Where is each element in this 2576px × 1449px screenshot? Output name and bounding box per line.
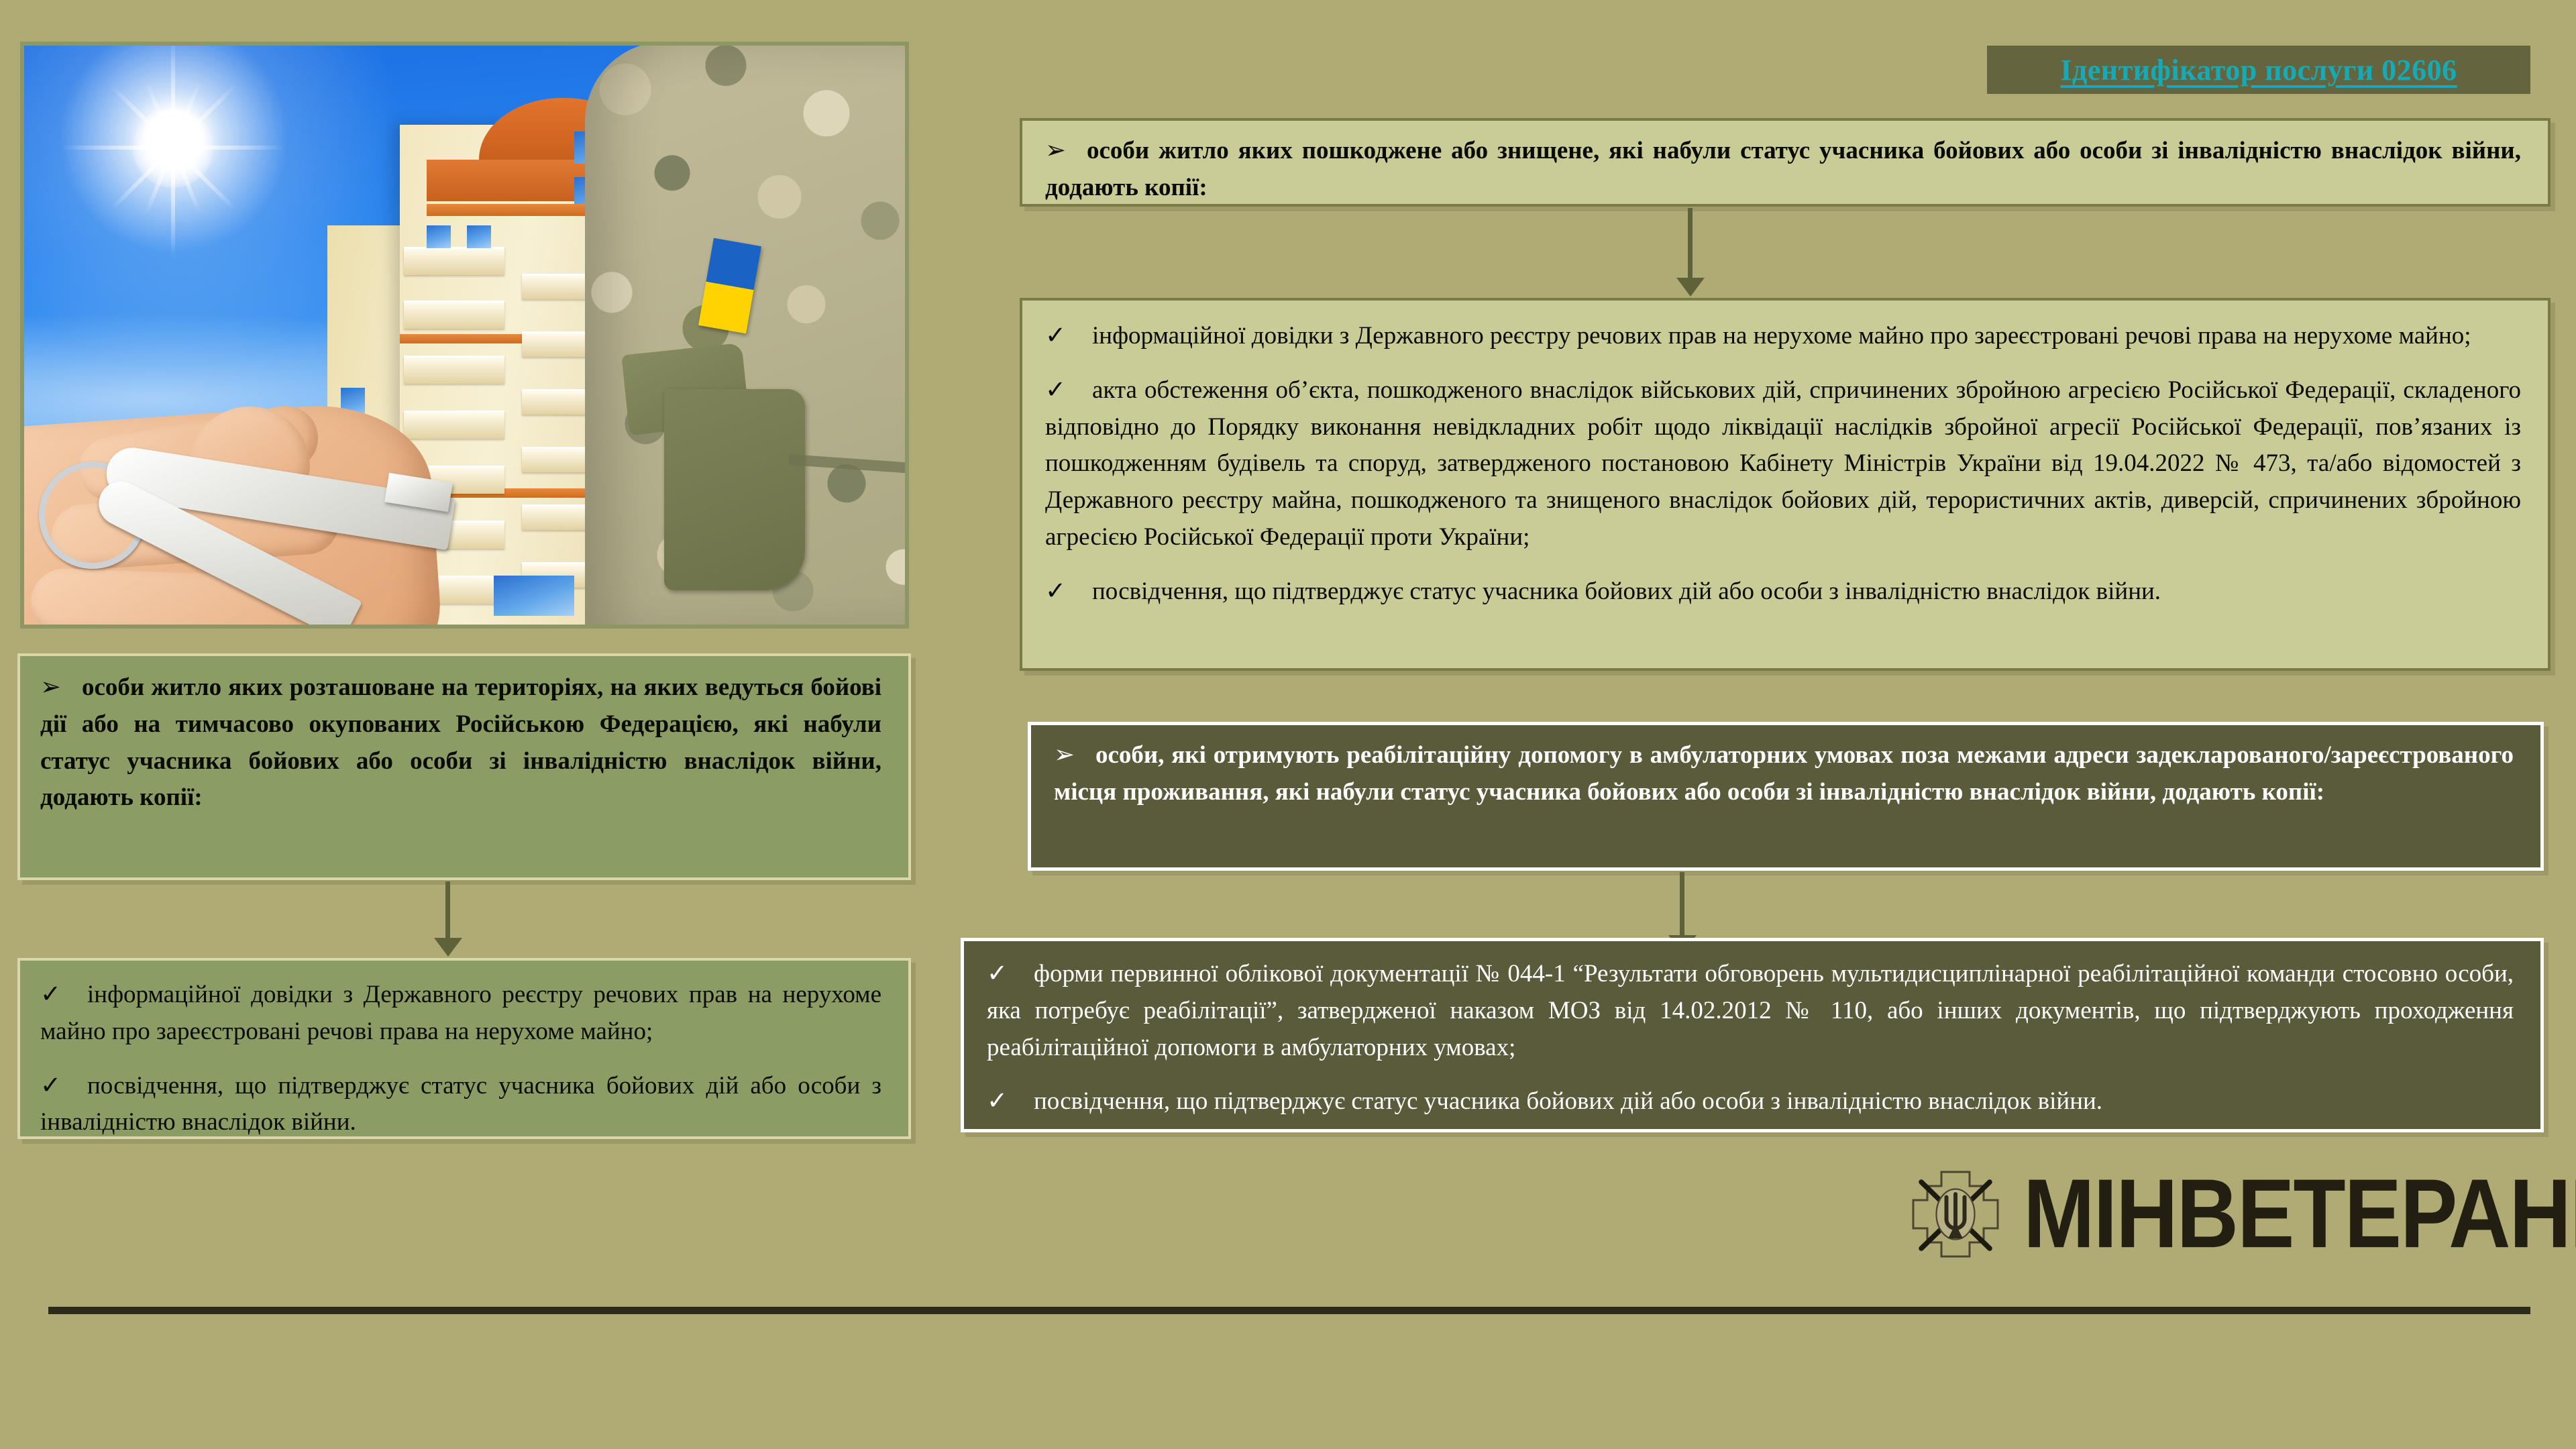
footer-divider [48, 1307, 2530, 1314]
right-condition-1-text: ➢особи житло яких пошкоджене або знищене… [1045, 133, 2521, 207]
window [467, 225, 491, 248]
check-bullet-icon: ✓ [987, 956, 1034, 993]
right-documents-box-2[interactable]: ✓форми первинної облікової документації … [961, 938, 2544, 1132]
connector-arrow-2 [1680, 872, 1684, 936]
right-doc-2-item: ✓форми первинної облікової документації … [987, 956, 2514, 1066]
service-identifier-label: Ідентифікатор послуги 02606 [2060, 53, 2457, 87]
ministry-logo-text: МІНВЕТЕРАНІВ [2023, 1170, 2576, 1258]
right-doc-1-item: ✓акта обстеження об’єкта, пошкодженого в… [1045, 372, 2521, 556]
right-condition-box-2[interactable]: ➢особи, які отримують реабілітаційну доп… [1028, 722, 2544, 871]
check-bullet-icon: ✓ [987, 1083, 1034, 1120]
ministry-of-veterans-affairs-emblem-icon [1905, 1164, 2006, 1265]
arrow-bullet-icon: ➢ [1054, 737, 1095, 774]
right-condition-box-1[interactable]: ➢особи житло яких пошкоджене або знищене… [1020, 118, 2551, 207]
ministry-logo: МІНВЕТЕРАНІВ [1905, 1164, 2576, 1265]
connector-arrow-1 [1688, 208, 1693, 279]
right-condition-2-text: ➢особи, які отримують реабілітаційну доп… [1054, 737, 2514, 811]
balcony [404, 356, 504, 384]
balcony [404, 247, 504, 275]
right-doc-1-item: ✓інформаційної довідки з Державного реєс… [1045, 318, 2521, 355]
left-condition-box[interactable]: ➢особи житло яких розташоване на територ… [17, 653, 911, 880]
window [427, 225, 451, 248]
hero-photo [20, 42, 909, 629]
check-bullet-icon: ✓ [1045, 372, 1092, 409]
left-doc-item: ✓інформаційної довідки з Державного реєс… [40, 977, 881, 1051]
service-identifier-badge[interactable]: Ідентифікатор послуги 02606 [1987, 46, 2530, 94]
arrow-bullet-icon: ➢ [40, 669, 82, 706]
uniform-pocket [664, 389, 805, 590]
left-documents-box[interactable]: ✓інформаційної довідки з Державного реєс… [17, 958, 911, 1139]
left-doc-item: ✓посвідчення, що підтверджує статус учас… [40, 1068, 881, 1142]
right-doc-1-item: ✓посвідчення, що підтверджує статус учас… [1045, 574, 2521, 610]
photo-composition [24, 46, 905, 625]
right-doc-2-item: ✓посвідчення, що підтверджує статус учас… [987, 1083, 2514, 1120]
connector-arrow-3 [445, 881, 450, 939]
check-bullet-icon: ✓ [1045, 574, 1092, 610]
slide-canvas: Ідентифікатор послуги 02606 ➢особи житло… [0, 0, 2576, 1449]
check-bullet-icon: ✓ [40, 1068, 87, 1105]
window [494, 576, 574, 616]
left-condition-text: ➢особи житло яких розташоване на територ… [40, 669, 881, 816]
check-bullet-icon: ✓ [40, 977, 87, 1014]
right-documents-box-1[interactable]: ✓інформаційної довідки з Державного реєс… [1020, 298, 2551, 671]
sun-icon [133, 107, 213, 188]
balcony [404, 411, 504, 439]
arrow-bullet-icon: ➢ [1045, 133, 1087, 170]
balcony [404, 301, 504, 329]
check-bullet-icon: ✓ [1045, 318, 1092, 355]
